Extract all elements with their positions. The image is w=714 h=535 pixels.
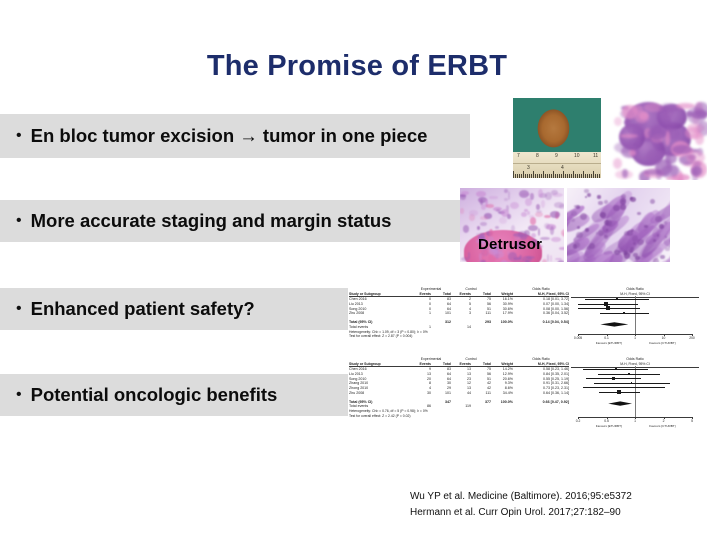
ruler-overlay: 789101134 bbox=[513, 152, 601, 178]
null-effect-line bbox=[635, 296, 636, 334]
forest-plot-recurrence: ExperimentalControlOdds RatioStudy or Su… bbox=[349, 357, 701, 453]
summary-diamond bbox=[608, 401, 632, 405]
forest-table: ExperimentalControlOdds RatioStudy or Su… bbox=[349, 357, 569, 418]
citation-2: Hermann et al. Curr Opin Urol. 2017;27:1… bbox=[410, 505, 632, 521]
bullet-text-3: Enhanced patient safety? bbox=[31, 298, 255, 320]
axis-tick-label: 1 bbox=[634, 419, 636, 423]
citations: Wu YP et al. Medicine (Baltimore). 2016;… bbox=[410, 489, 632, 520]
plot-title: Odds Ratio bbox=[571, 357, 699, 361]
overall-effect-note: Test for overall effect: Z = 2.87 (P = 0… bbox=[349, 334, 569, 338]
bullet-text-1: En bloc tumor excision → tumor in one pi… bbox=[31, 125, 428, 147]
forest-plot-area: Odds RatioM-H, Fixed, 95% CI0.20.5125Fav… bbox=[571, 357, 699, 453]
effect-marker bbox=[623, 387, 625, 389]
effect-marker bbox=[616, 298, 618, 300]
summary-diamond bbox=[600, 322, 628, 326]
bullet-text-2: More accurate staging and margin status bbox=[31, 210, 392, 232]
bullet-glyph: • bbox=[16, 387, 22, 403]
forest-table: ExperimentalControlOdds RatioStudy or Su… bbox=[349, 287, 569, 339]
bullet-glyph: • bbox=[16, 213, 22, 229]
bullet-text-4: Potential oncologic benefits bbox=[31, 384, 278, 406]
effect-marker bbox=[604, 302, 608, 306]
axis-tick-label: 0.005 bbox=[574, 336, 582, 340]
favours-experimental-label: Favours [ETURBT] bbox=[596, 341, 622, 345]
axis-tick-label: 10 bbox=[662, 336, 666, 340]
favours-control-label: Favours [CTURBT] bbox=[649, 424, 675, 428]
effect-marker bbox=[623, 312, 625, 314]
effect-marker bbox=[617, 390, 621, 394]
whole-mount-histology bbox=[607, 96, 707, 180]
histology-left: Detrusor bbox=[460, 188, 564, 262]
bullet-glyph: • bbox=[16, 301, 22, 317]
axis-tick-label: 2 bbox=[663, 419, 665, 423]
axis-tick-label: 0.5 bbox=[604, 419, 609, 423]
effect-marker bbox=[628, 373, 630, 375]
page-title: The Promise of ERBT bbox=[0, 50, 714, 83]
effect-marker bbox=[631, 382, 633, 384]
effect-marker bbox=[612, 377, 615, 380]
bullet-glyph: • bbox=[16, 128, 22, 144]
bullet-band-4: • Potential oncologic benefits bbox=[0, 374, 348, 416]
bullet-band-2: • More accurate staging and margin statu… bbox=[0, 200, 462, 242]
histology-pair: Detrusor bbox=[460, 188, 670, 262]
overall-effect-note: Test for overall effect: Z = 2.42 (P = 0… bbox=[349, 414, 569, 418]
detrusor-label: Detrusor bbox=[478, 236, 542, 253]
histology-right bbox=[567, 188, 671, 262]
slide-canvas: The Promise of ERBT • En bloc tumor exci… bbox=[0, 0, 714, 535]
favours-control-label: Favours [CTURBT] bbox=[649, 341, 675, 345]
effect-marker bbox=[615, 368, 617, 370]
plot-title: Odds Ratio bbox=[571, 287, 699, 291]
bullet-band-1: • En bloc tumor excision → tumor in one … bbox=[0, 114, 470, 158]
forest-plot-perforation: ExperimentalControlOdds RatioStudy or Su… bbox=[349, 287, 701, 359]
gross-specimen-photo: 789101134 bbox=[513, 98, 601, 178]
axis-tick-label: 200 bbox=[689, 336, 695, 340]
favours-experimental-label: Favours [ETURBT] bbox=[596, 424, 622, 428]
axis-tick-label: 0.2 bbox=[576, 419, 581, 423]
citation-1: Wu YP et al. Medicine (Baltimore). 2016;… bbox=[410, 489, 632, 505]
forest-plot-area: Odds RatioM-H, Fixed, 95% CI0.0050.11102… bbox=[571, 287, 699, 359]
total-row: Total (95% CI)312293100.0%0.14 [0.04, 0.… bbox=[349, 316, 569, 325]
bullet-band-3: • Enhanced patient safety? bbox=[0, 288, 348, 330]
axis-tick-label: 5 bbox=[691, 419, 693, 423]
axis-tick-label: 0.1 bbox=[604, 336, 609, 340]
total-row: Total (95% CI)347377100.0%0.66 [0.47, 0.… bbox=[349, 396, 569, 405]
axis-tick-label: 1 bbox=[634, 336, 636, 340]
effect-marker bbox=[606, 306, 610, 310]
